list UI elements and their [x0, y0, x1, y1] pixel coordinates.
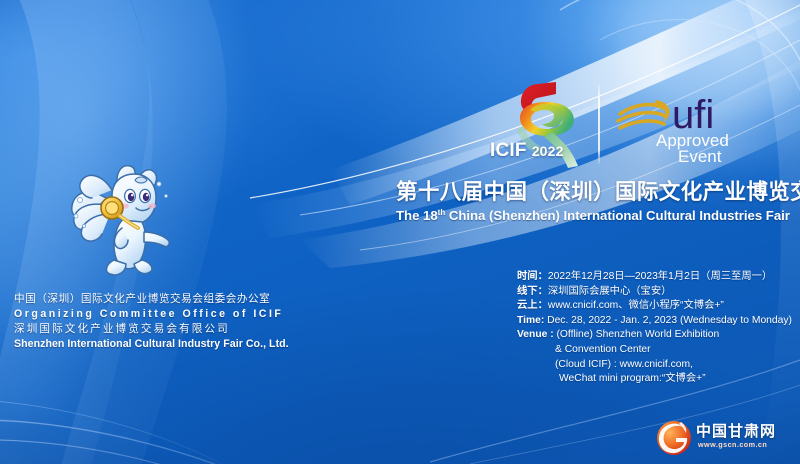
- info-value: (Offline) Shenzhen World Exhibition: [554, 329, 720, 340]
- organizer-block: 中国（深圳）国际文化产业博览交易会组委会办公室 Organizing Commi…: [14, 292, 304, 352]
- info-value: WeChat mini program:“文博会+”: [559, 373, 706, 384]
- info-row: 云上：www.cnicif.com、微信小程序“文博会+”: [517, 299, 797, 314]
- info-label: 线下：: [517, 286, 548, 297]
- info-label: Venue :: [517, 329, 554, 340]
- info-value: Dec. 28, 2022 - Jan. 2, 2023 (Wednesday …: [544, 315, 792, 326]
- title-chinese: 第十八届中国（深圳）国际文化产业博览交易会: [396, 180, 786, 204]
- info-value: www.cnicif.com、微信小程序“文博会+”: [548, 300, 724, 311]
- title-english-pre: The 18: [396, 208, 438, 223]
- organizer-line-cn-1: 中国（深圳）国际文化产业博览交易会组委会办公室: [14, 292, 304, 307]
- title-zone: 第十八届中国（深圳）国际文化产业博览交易会 The 18th China (Sh…: [396, 180, 786, 223]
- logo-zone: ICIF2022 ufi Approved Event: [486, 78, 776, 170]
- info-row: (Cloud ICIF) : www.cnicif.com,: [517, 358, 797, 373]
- title-english: The 18th China (Shenzhen) International …: [396, 208, 786, 223]
- icif-year: 2022: [532, 143, 564, 159]
- poster-canvas: ICIF2022 ufi Approved Event 第十八届中国（深圳）国际…: [0, 0, 800, 464]
- title-english-post: China (Shenzhen) International Cultural …: [445, 208, 790, 223]
- watermark-site-name: 中国甘肃网: [696, 420, 776, 441]
- info-value: & Convention Center: [555, 344, 651, 355]
- watermark: 中国甘肃网 www.gscn.com.cn: [654, 416, 792, 458]
- watermark-url: www.gscn.com.cn: [698, 440, 767, 449]
- icif-mascot: [62, 160, 180, 280]
- info-row: 线下：深圳国际会展中心（宝安）: [517, 285, 797, 300]
- ufi-event-text: Event: [678, 147, 722, 164]
- organizer-line-cn-2: 深圳国际文化产业博览交易会有限公司: [14, 322, 304, 337]
- info-row: Venue : (Offline) Shenzhen World Exhibit…: [517, 328, 797, 343]
- info-label: Time:: [517, 315, 544, 326]
- info-value: (Cloud ICIF) : www.cnicif.com,: [555, 359, 693, 370]
- organizer-line-en-2: Shenzhen International Cultural Industry…: [14, 337, 304, 352]
- ufi-approved-event-logo: ufi Approved Event: [616, 88, 766, 164]
- icif-wordmark-text: ICIF: [490, 140, 527, 161]
- info-label: 云上：: [517, 300, 548, 311]
- info-row: 时间：2022年12月28日—2023年1月2日（周三至周一）: [517, 270, 797, 285]
- gscn-logo-icon: [654, 418, 694, 458]
- info-value: 深圳国际会展中心（宝安）: [548, 286, 672, 297]
- info-label: 时间：: [517, 271, 548, 282]
- organizer-line-en-1: Organizing Committee Office of ICIF: [14, 307, 304, 322]
- event-info-block: 时间：2022年12月28日—2023年1月2日（周三至周一） 线下：深圳国际会…: [517, 270, 797, 387]
- info-value: 2022年12月28日—2023年1月2日（周三至周一）: [548, 271, 772, 282]
- icif-wordmark: ICIF2022: [490, 140, 564, 162]
- info-row: WeChat mini program:“文博会+”: [517, 372, 797, 387]
- info-row: & Convention Center: [517, 343, 797, 358]
- info-row: Time: Dec. 28, 2022 - Jan. 2, 2023 (Wedn…: [517, 314, 797, 329]
- logo-divider: [598, 84, 600, 164]
